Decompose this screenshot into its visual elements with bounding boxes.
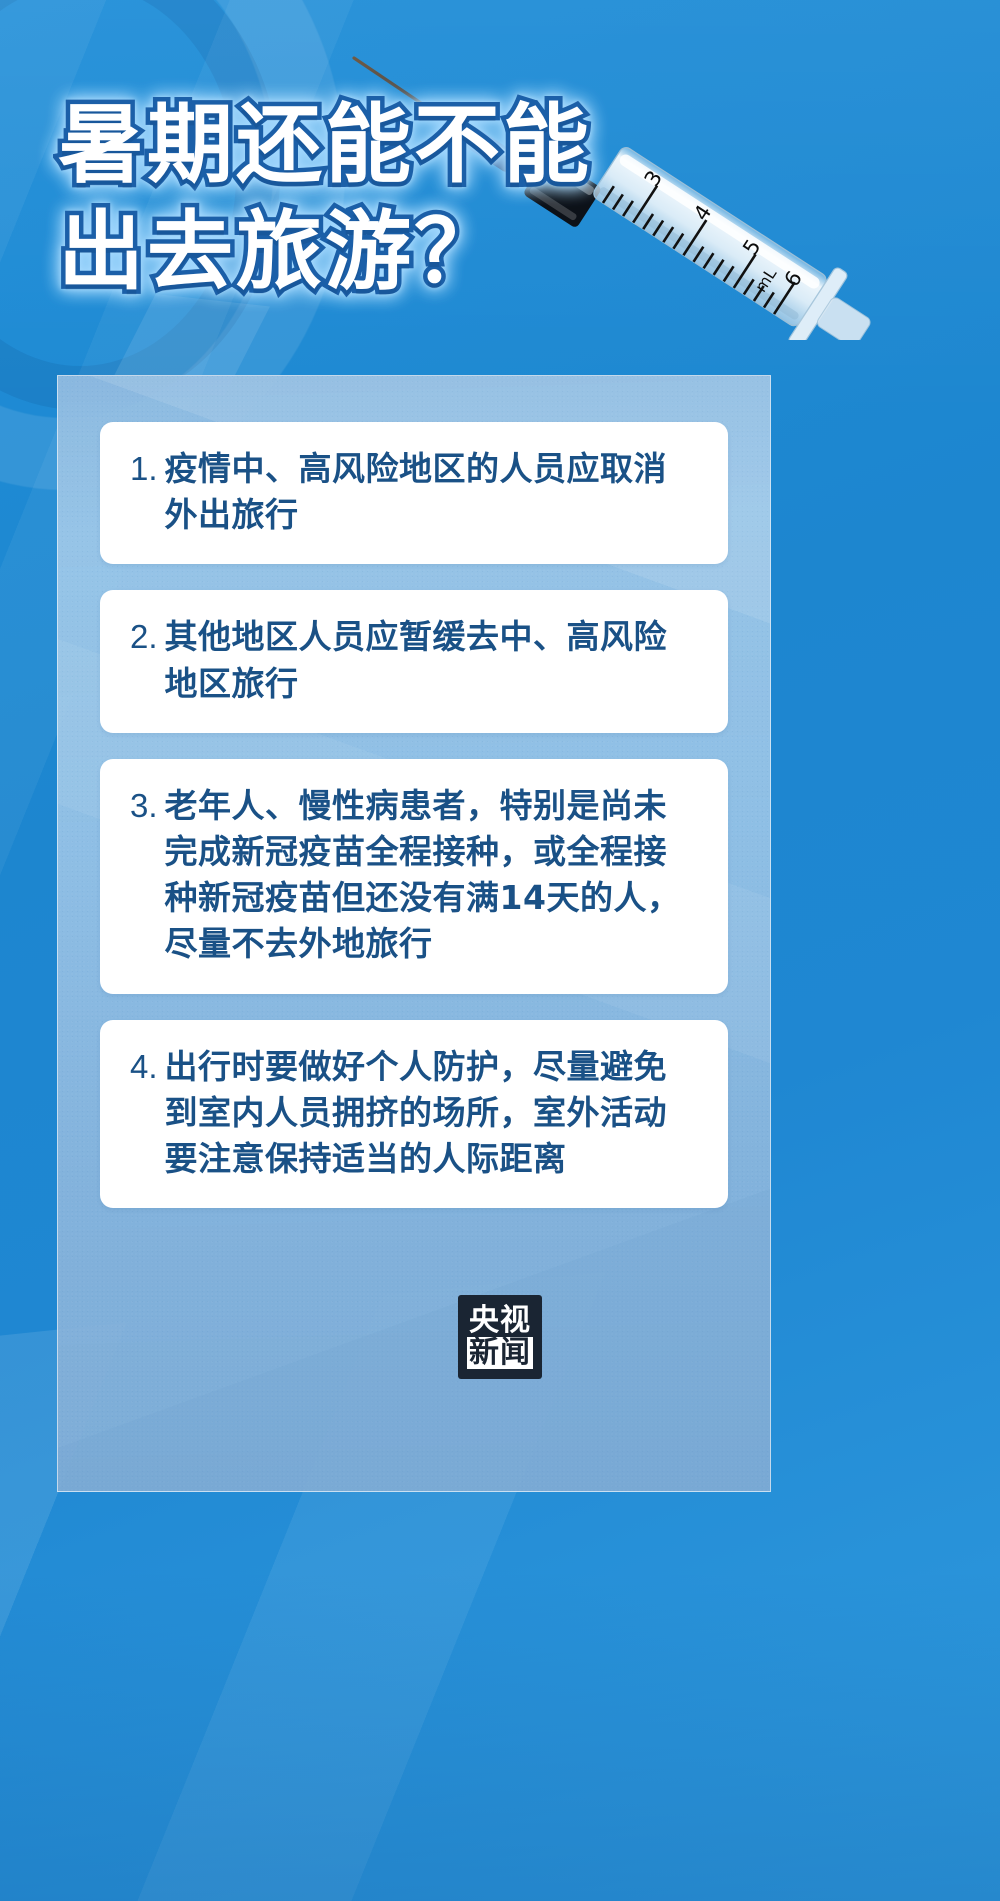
card-number: 1. [130, 446, 165, 492]
list-item: 3. 老年人、慢性病患者，特别是尚未 完成新冠疫苗全程接种，或全程接 种新冠疫苗… [100, 759, 728, 994]
card-number: 4. [130, 1044, 165, 1090]
logo-text-top: 央视 [469, 1305, 531, 1337]
card-line: 到室内人员拥挤的场所，室外活动 [165, 1093, 668, 1132]
card-text: 其他地区人员应暂缓去中、高风险 地区旅行 [165, 614, 698, 706]
card-text: 疫情中、高风险地区的人员应取消 外出旅行 [165, 446, 698, 538]
card-line: 种新冠疫苗但还没有满14天的人， [165, 878, 681, 917]
card-number: 2. [130, 614, 165, 660]
cctv-news-logo: 央视 新闻 [458, 1295, 542, 1379]
card-line: 其他地区人员应暂缓去中、高风险 [165, 617, 668, 656]
card-line: 要注意保持适当的人际距离 [165, 1139, 567, 1178]
card-line: 完成新冠疫苗全程接种，或全程接 [165, 832, 668, 871]
card-line: 出行时要做好个人防护，尽量避免 [165, 1047, 668, 1086]
card-line: 地区旅行 [165, 664, 299, 703]
card-text: 老年人、慢性病患者，特别是尚未 完成新冠疫苗全程接种，或全程接 种新冠疫苗但还没… [165, 783, 698, 968]
logo-text-bottom: 新闻 [467, 1337, 533, 1369]
list-item: 2. 其他地区人员应暂缓去中、高风险 地区旅行 [100, 590, 728, 732]
list-item: 1. 疫情中、高风险地区的人员应取消 外出旅行 [100, 422, 728, 564]
logo-wrapper: 央视 新闻 [0, 1295, 1000, 1379]
card-line: 外出旅行 [165, 495, 299, 534]
background-bottom-shade [0, 1571, 1000, 1901]
headline-line-1: 暑期还能不能 [58, 95, 698, 196]
headline-line-2: 出去旅游？ [58, 202, 698, 303]
logo-row-bottom: 新闻 [466, 1337, 534, 1369]
headline: 暑期还能不能 出去旅游？ [58, 95, 698, 304]
card-number: 3. [130, 783, 165, 829]
panel-inner: 1. 疫情中、高风险地区的人员应取消 外出旅行 2. 其他地区人员应暂缓去中、高… [58, 376, 770, 1208]
poster-root: 3 4 5 mL 6 暑期还能不能 出去旅游？ 1. 疫情中、高 [0, 0, 1000, 1901]
logo-row-top: 央视 [466, 1305, 534, 1337]
card-line: 老年人、慢性病患者，特别是尚未 [165, 786, 668, 825]
card-line: 尽量不去外地旅行 [165, 924, 433, 963]
list-item: 4. 出行时要做好个人防护，尽量避免 到室内人员拥挤的场所，室外活动 要注意保持… [100, 1020, 728, 1209]
card-text: 出行时要做好个人防护，尽量避免 到室内人员拥挤的场所，室外活动 要注意保持适当的… [165, 1044, 698, 1183]
card-line: 疫情中、高风险地区的人员应取消 [165, 449, 668, 488]
